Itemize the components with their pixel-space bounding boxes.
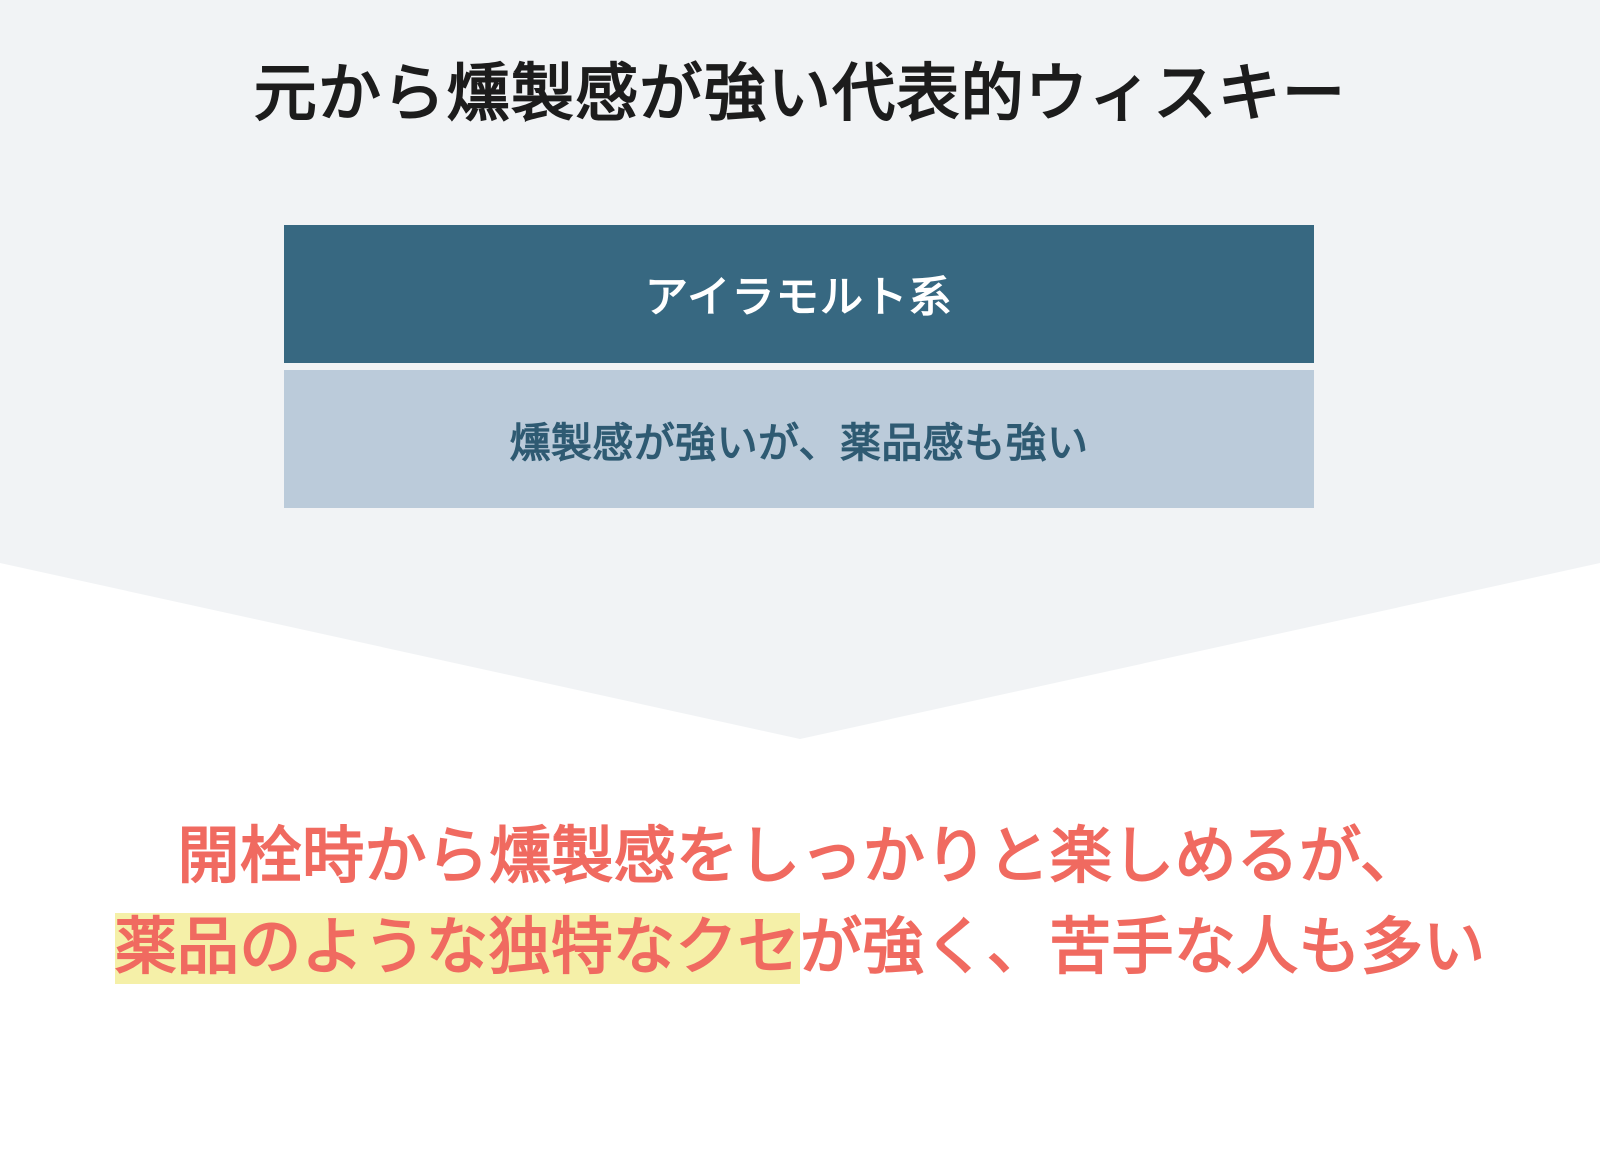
conclusion-line-2: 薬品のような独特なクセが強く、苦手な人も多い [0,903,1600,994]
conclusion-highlight-text: 薬品のような独特なクセ [115,913,800,984]
conclusion-text: 開栓時から燻製感をしっかりと楽しめるが、 薬品のような独特なクセが強く、苦手な人… [0,812,1600,993]
conclusion-line-1: 開栓時から燻製感をしっかりと楽しめるが、 [0,812,1600,903]
category-card-body: 燻製感が強いが、薬品感も強い [284,370,1314,508]
page-title: 元から燻製感が強い代表的ウィスキー [0,58,1600,130]
category-card-body-label: 燻製感が強いが、薬品感も強い [510,409,1089,469]
category-card-header: アイラモルト系 [284,225,1314,363]
category-card: アイラモルト系 燻製感が強いが、薬品感も強い [284,225,1314,508]
conclusion-line-1-text: 開栓時から燻製感をしっかりと楽しめるが、 [178,822,1423,891]
category-card-header-label: アイラモルト系 [645,263,953,325]
conclusion-line-2-rest: が強く、苦手な人も多い [800,913,1485,982]
